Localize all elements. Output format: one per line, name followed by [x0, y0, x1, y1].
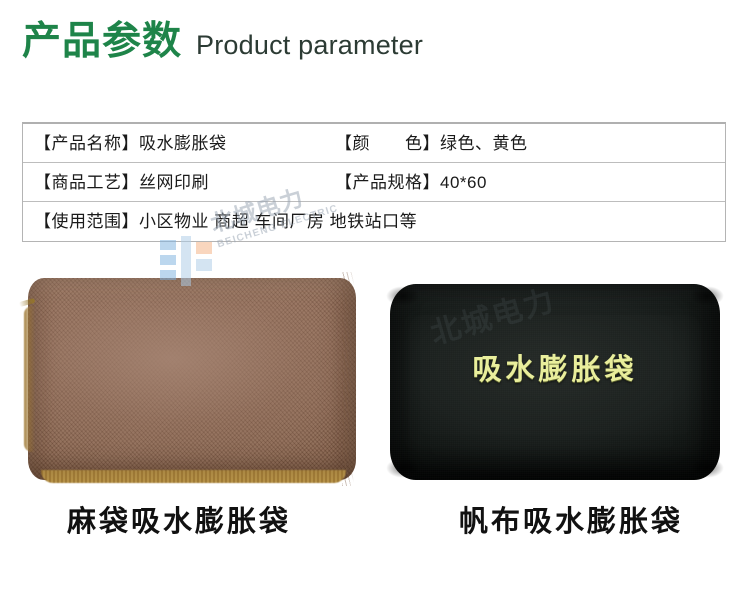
page-title-en: Product parameter [196, 32, 423, 59]
product-image-gallery: 北城电力 吸水膨胀袋 [0, 262, 750, 492]
product-captions: 麻袋吸水膨胀袋 帆布吸水膨胀袋 [0, 504, 750, 542]
canvas-corner-shadow [690, 286, 724, 306]
canvas-corner-shadow [690, 458, 724, 478]
spec-key: 【颜 色】 [335, 135, 440, 152]
spec-cell-product-name: 【产品名称】 吸水膨胀袋 [23, 124, 335, 162]
table-row: 【产品名称】 吸水膨胀袋 【颜 色】 绿色、黄色 [23, 124, 725, 163]
spec-value: 丝网印刷 [139, 174, 209, 191]
spec-value: 小区物业 商超 车间厂房 地铁站口等 [139, 213, 417, 230]
product-spec-table: 【产品名称】 吸水膨胀袋 【颜 色】 绿色、黄色 【商品工艺】 丝网印刷 【产品… [22, 122, 726, 242]
spec-value: 40*60 [440, 174, 487, 191]
spec-cell-craft: 【商品工艺】 丝网印刷 [23, 163, 335, 201]
burlap-bag-body [28, 278, 356, 480]
canvas-bag-printed-text: 吸水膨胀袋 [390, 356, 720, 385]
table-row: 【商品工艺】 丝网印刷 【产品规格】 40*60 [23, 163, 725, 202]
burlap-bottom-seam [41, 470, 346, 483]
spec-cell-color: 【颜 色】 绿色、黄色 [335, 124, 725, 162]
canvas-corner-shadow [386, 458, 420, 478]
spec-cell-usage: 【使用范围】 小区物业 商超 车间厂房 地铁站口等 [23, 202, 725, 241]
canvas-corner-shadow [386, 286, 420, 306]
spec-key: 【产品规格】 [335, 174, 440, 191]
caption-black-canvas-bag: 帆布吸水膨胀袋 [382, 504, 750, 542]
spec-key: 【商品工艺】 [34, 174, 139, 191]
page-header: 产品参数 Product parameter [22, 22, 423, 61]
burlap-left-seam [24, 306, 35, 451]
product-image-burlap-sack [28, 278, 356, 480]
product-image-black-canvas-bag: 北城电力 吸水膨胀袋 [390, 284, 720, 480]
spec-value: 吸水膨胀袋 [139, 135, 227, 152]
spec-key: 【使用范围】 [34, 213, 139, 230]
burlap-frayed-edge [342, 272, 368, 486]
caption-burlap-sack: 麻袋吸水膨胀袋 [0, 504, 382, 542]
spec-value: 绿色、黄色 [440, 135, 528, 152]
page-title-cn: 产品参数 [22, 22, 182, 61]
spec-key: 【产品名称】 [34, 135, 139, 152]
table-row: 【使用范围】 小区物业 商超 车间厂房 地铁站口等 [23, 202, 725, 241]
spec-cell-size: 【产品规格】 40*60 [335, 163, 725, 201]
